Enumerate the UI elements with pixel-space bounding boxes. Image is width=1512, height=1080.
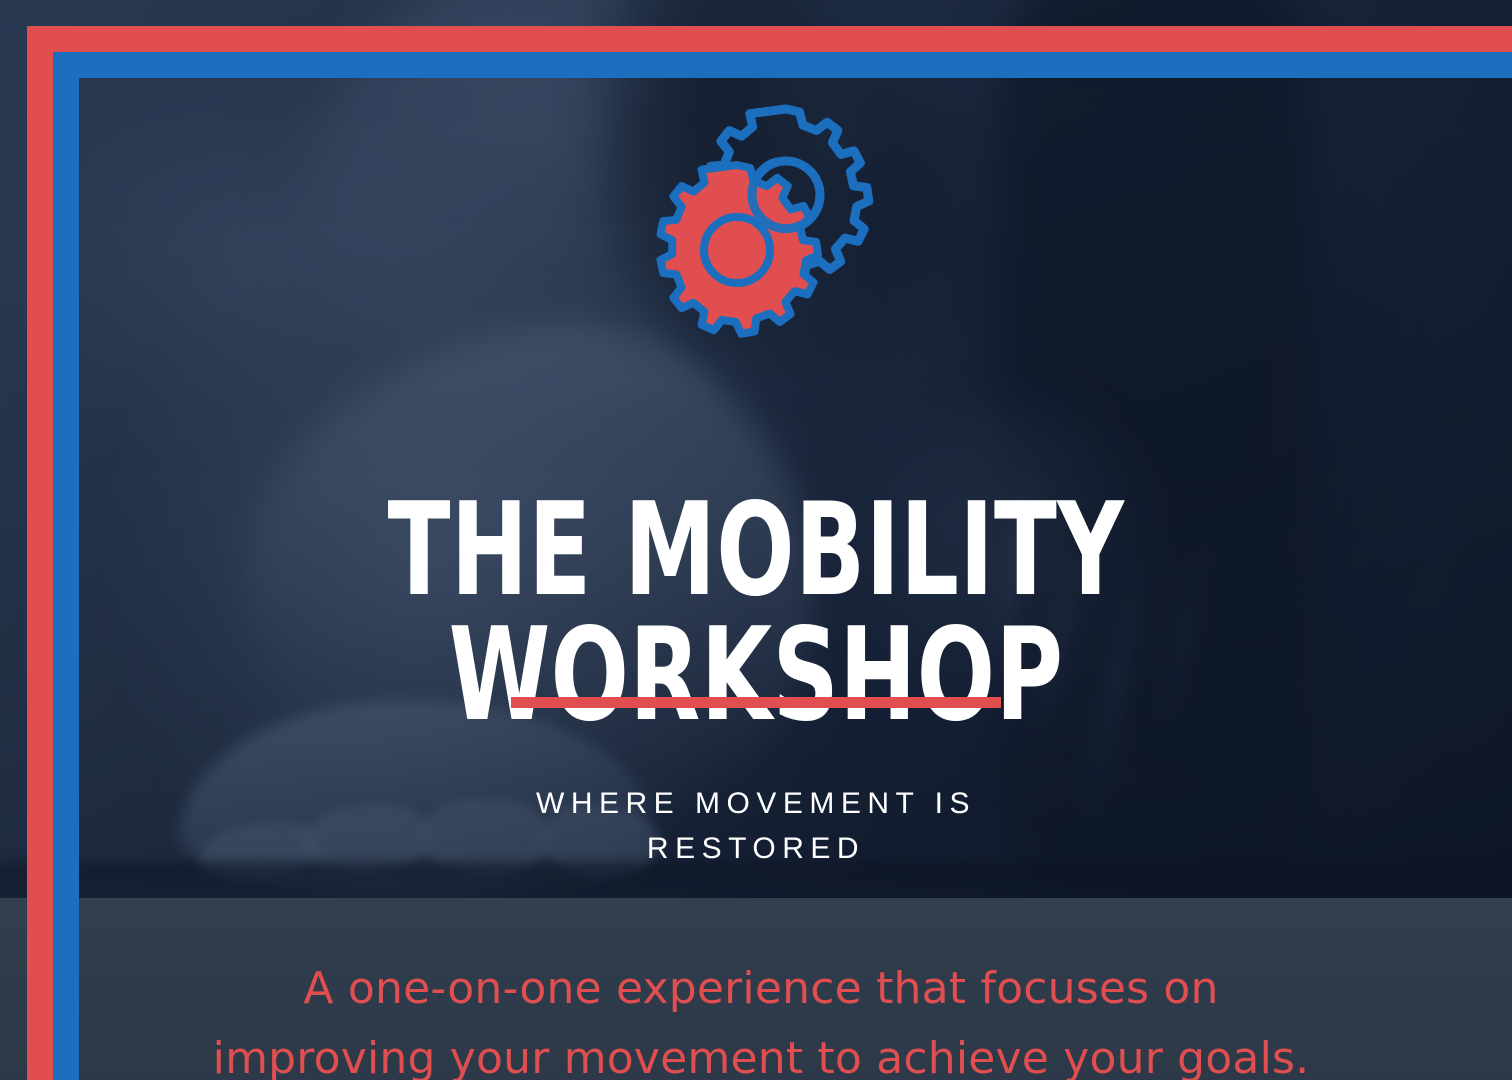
gear-logo-svg <box>631 103 891 348</box>
red-divider-rule <box>511 697 1001 708</box>
frame-blue-top-bar <box>53 52 1512 78</box>
poster-canvas: THE MOBILITY WORKSHOP WHERE MOVEMENT IS … <box>0 0 1512 1080</box>
tagline: A one-on-one experience that focuses on … <box>136 954 1386 1080</box>
gear-logo <box>631 103 891 348</box>
subtitle: WHERE MOVEMENT IS RESTORED <box>356 781 1156 872</box>
frame-red-top-bar <box>27 26 1512 52</box>
frame-blue-left-bar <box>53 52 79 1080</box>
frame-red-left-bar <box>27 26 53 1080</box>
gear-filled-red <box>661 165 819 334</box>
